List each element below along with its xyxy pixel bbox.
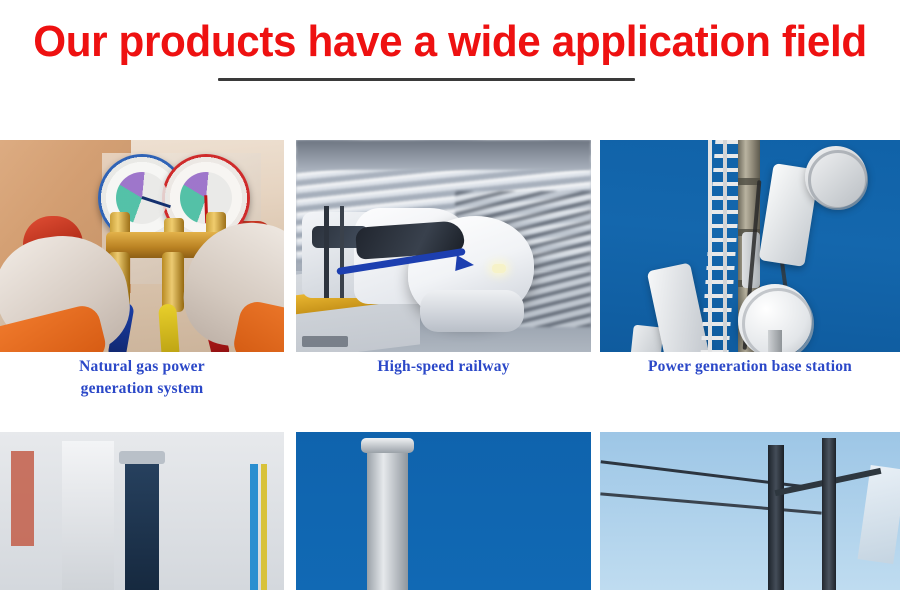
tile-natural-gas[interactable]: Natural gas power generation system <box>0 140 284 352</box>
tile-row2-2[interactable] <box>296 432 591 590</box>
heading-block: Our products have a wide application fie… <box>0 0 900 100</box>
page-title: Our products have a wide application fie… <box>18 18 882 66</box>
base-station-photo[interactable] <box>600 140 900 352</box>
caption-line: High-speed railway <box>296 356 591 378</box>
tile-power-generation-base-station[interactable]: Power generation base station <box>600 140 900 352</box>
caption-line: Power generation base station <box>600 356 900 378</box>
row2-tile3-photo[interactable] <box>600 432 900 590</box>
title-underline-rule <box>218 78 635 81</box>
caption-line: generation system <box>0 378 284 400</box>
row2-tile2-photo[interactable] <box>296 432 591 590</box>
tile-high-speed-railway[interactable]: High-speed railway <box>296 140 591 352</box>
application-field-banner: Our products have a wide application fie… <box>0 0 900 450</box>
row2-tile1-photo[interactable] <box>0 432 284 590</box>
high-speed-railway-photo[interactable] <box>296 140 591 352</box>
tile-row2-3[interactable] <box>600 432 900 590</box>
tile-row-2 <box>0 432 900 590</box>
caption-line: Natural gas power <box>0 356 284 378</box>
caption-power-generation-base-station: Power generation base station <box>600 356 900 378</box>
application-tile-grid: Natural gas power generation system <box>0 140 900 450</box>
natural-gas-photo[interactable] <box>0 140 284 352</box>
tile-row2-1[interactable] <box>0 432 284 590</box>
caption-high-speed-railway: High-speed railway <box>296 356 591 378</box>
tile-row-1: Natural gas power generation system <box>0 140 900 352</box>
caption-natural-gas: Natural gas power generation system <box>0 356 284 400</box>
